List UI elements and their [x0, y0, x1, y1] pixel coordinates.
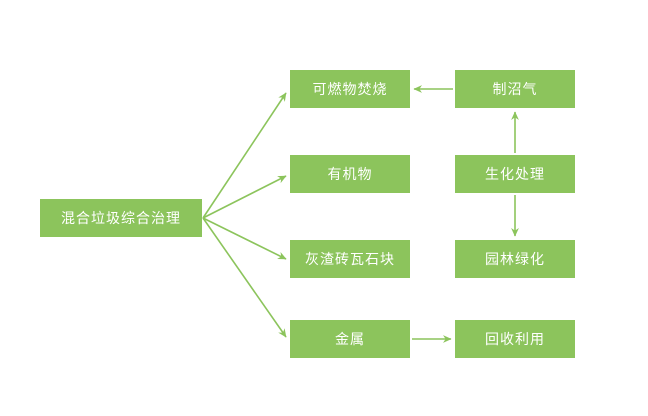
- node-label: 园林绿化: [485, 252, 545, 266]
- node-biogas-production[interactable]: 制沼气: [455, 70, 575, 108]
- node-organic-matter[interactable]: 有机物: [290, 155, 410, 193]
- node-label: 有机物: [328, 167, 373, 181]
- edge-source-to-organic: [203, 176, 286, 218]
- edge-source-to-metal: [203, 218, 286, 337]
- node-label: 金属: [335, 332, 365, 346]
- node-combustible-incineration[interactable]: 可燃物焚烧: [290, 70, 410, 108]
- node-label: 生化处理: [485, 167, 545, 181]
- diagram-canvas: 混合垃圾综合治理 可燃物焚烧 有机物 灰渣砖瓦石块 金属 制沼气 生化处理 园林…: [0, 0, 648, 416]
- node-biochemical-treatment[interactable]: 生化处理: [455, 155, 575, 193]
- node-label: 混合垃圾综合治理: [61, 211, 181, 225]
- node-recycling-reuse[interactable]: 回收利用: [455, 320, 575, 358]
- node-label: 回收利用: [485, 332, 545, 346]
- edge-source-to-combustible: [203, 93, 286, 218]
- edge-source-to-ash-brick: [203, 218, 286, 259]
- node-label: 制沼气: [493, 82, 538, 96]
- node-ash-brick-tile-stone[interactable]: 灰渣砖瓦石块: [290, 240, 410, 278]
- node-landscaping[interactable]: 园林绿化: [455, 240, 575, 278]
- node-label: 可燃物焚烧: [313, 82, 388, 96]
- node-metal[interactable]: 金属: [290, 320, 410, 358]
- node-source-mixed-waste[interactable]: 混合垃圾综合治理: [40, 199, 202, 237]
- node-label: 灰渣砖瓦石块: [305, 252, 395, 266]
